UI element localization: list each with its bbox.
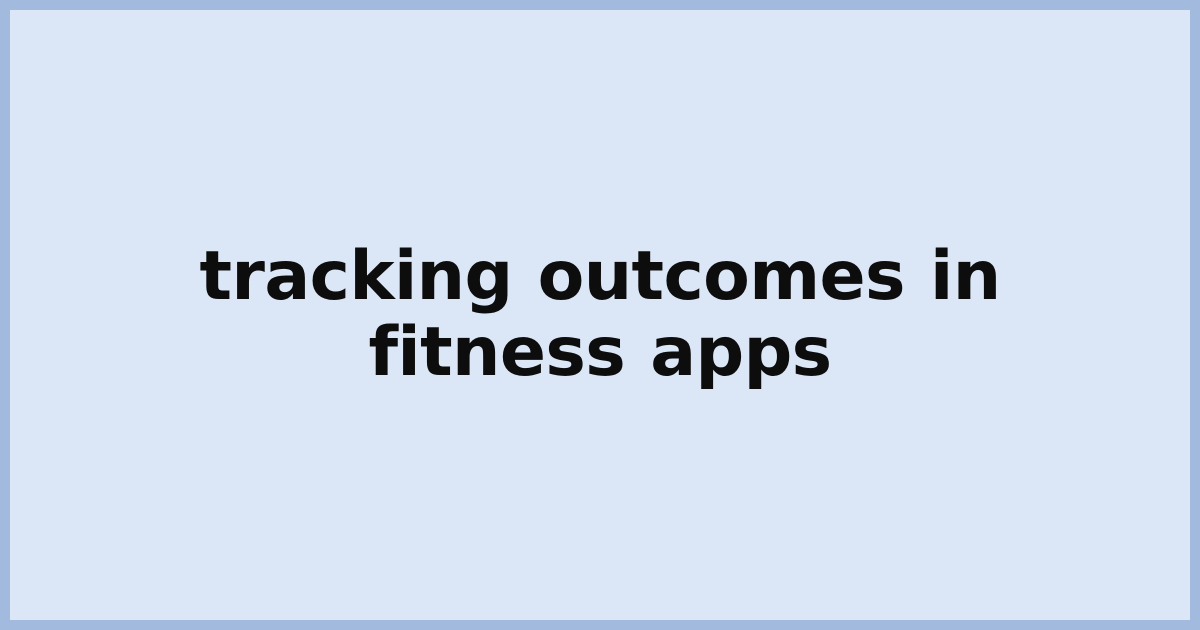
og-preview-card: tracking outcomes in fitness apps (0, 0, 1200, 630)
page-title: tracking outcomes in fitness apps (80, 239, 1120, 391)
headline-block: tracking outcomes in fitness apps (10, 239, 1190, 391)
